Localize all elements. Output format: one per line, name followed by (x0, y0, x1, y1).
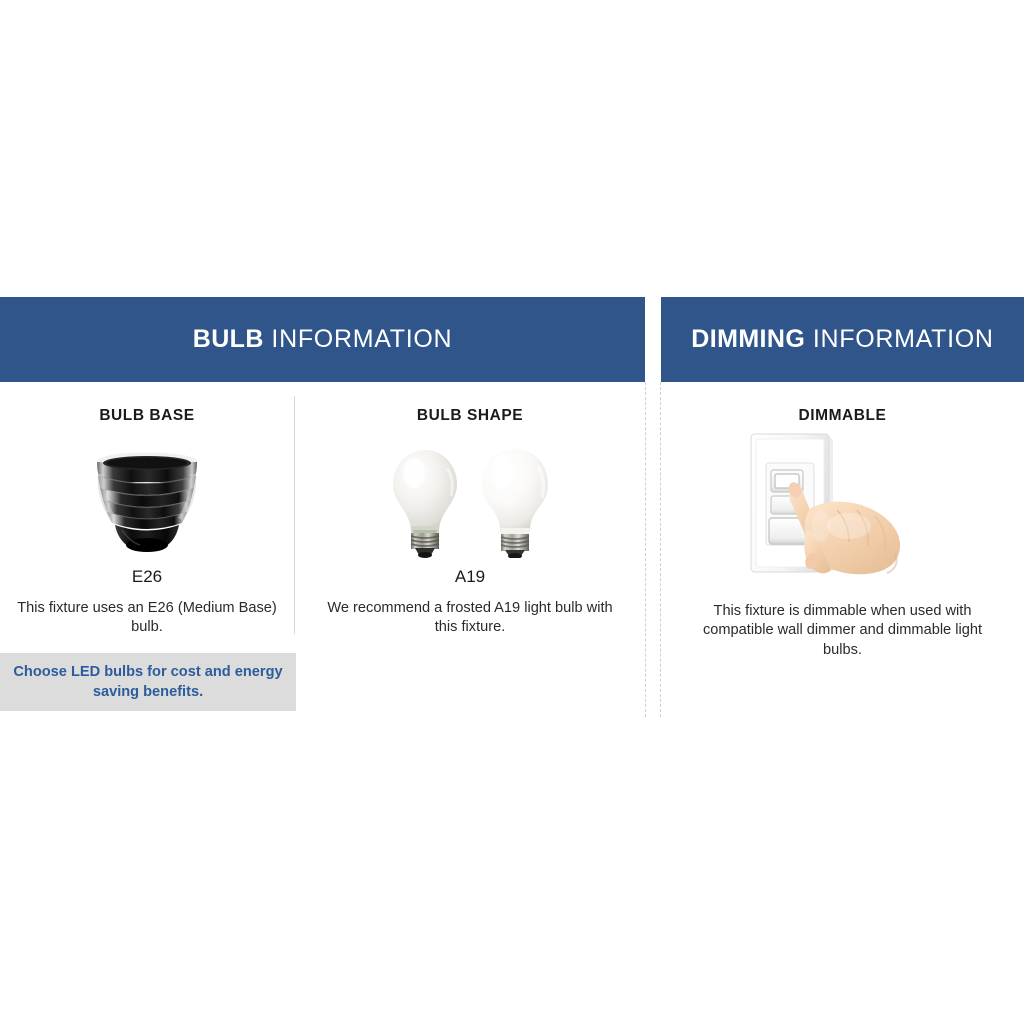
bulb-base-title: BULB BASE (0, 408, 294, 424)
dimmable-art (661, 430, 1024, 580)
bulb-information-title-rest: INFORMATION (264, 325, 452, 353)
e26-screw-base-icon (88, 450, 206, 558)
bulb-base-description: This fixture uses an E26 (Medium Base) b… (2, 599, 292, 638)
bulb-shape-art (296, 436, 644, 558)
dimming-information-title-rest: INFORMATION (805, 325, 993, 353)
bulb-shape-title: BULB SHAPE (296, 408, 644, 424)
dimming-information-header: DIMMING INFORMATION (661, 297, 1024, 382)
bulb-base-code: E26 (0, 568, 294, 585)
dimmable-description: This fixture is dimmable when used with … (688, 602, 998, 661)
bulb-shape-code: A19 (296, 568, 644, 585)
column-divider (294, 396, 295, 634)
dimming-information-title: DIMMING INFORMATION (691, 325, 993, 354)
column-dimmable: DIMMABLE (661, 382, 1024, 661)
a19-led-bulb-icon (477, 446, 553, 558)
a19-bulb-pair-icon (387, 446, 553, 558)
bulb-information-title: BULB INFORMATION (193, 325, 453, 354)
dimmable-title: DIMMABLE (661, 408, 1024, 424)
led-callout: Choose LED bulbs for cost and energy sav… (0, 653, 296, 711)
a19-incandescent-bulb-icon (387, 446, 463, 558)
bulb-base-art (0, 436, 294, 558)
column-bulb-base: BULB BASE (0, 382, 294, 638)
bulb-information-header: BULB INFORMATION (0, 297, 645, 382)
dimming-information-title-strong: DIMMING (691, 325, 805, 353)
column-bulb-shape: BULB SHAPE (296, 382, 644, 638)
led-callout-text: Choose LED bulbs for cost and energy sav… (0, 662, 296, 702)
bulb-information-title-strong: BULB (193, 325, 264, 353)
wall-dimmer-hand-icon (745, 430, 941, 580)
bulb-shape-description: We recommend a frosted A19 light bulb wi… (325, 599, 615, 638)
